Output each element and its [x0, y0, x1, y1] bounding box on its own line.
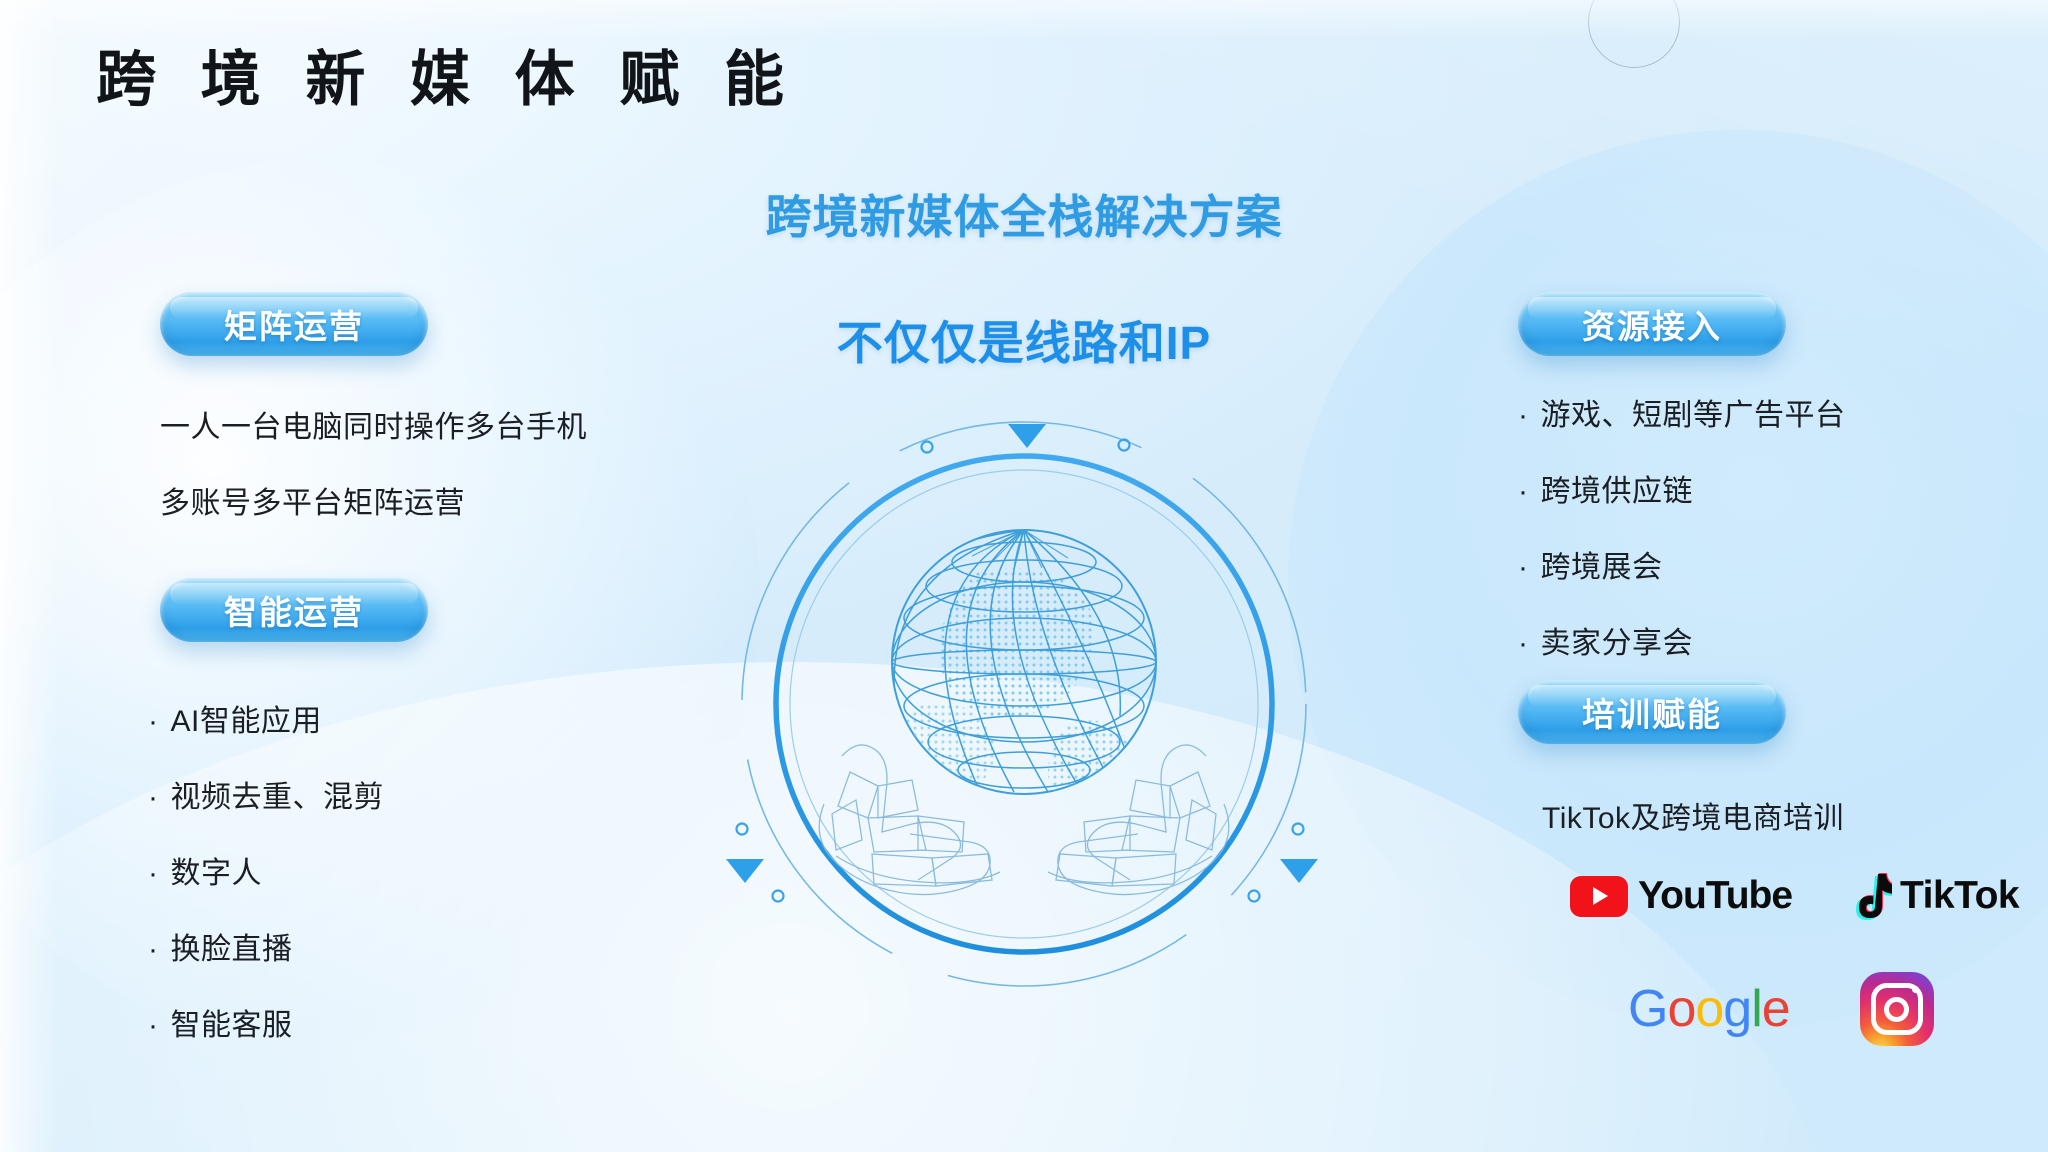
list-item: ·智能客服: [148, 1000, 384, 1044]
center-heading-primary: 跨境新媒体全栈解决方案: [0, 192, 2048, 243]
pill-matrix-operations[interactable]: 矩阵运营: [160, 292, 428, 356]
pill-smart-operations[interactable]: 智能运营: [160, 578, 428, 642]
youtube-logo[interactable]: YouTube: [1570, 874, 1792, 918]
list-item-label: AI智能应用: [171, 705, 322, 738]
list-item-label: 跨境展会: [1541, 551, 1663, 584]
bullet-mark: ·: [148, 705, 159, 738]
list-item: ·AI智能应用: [148, 696, 384, 740]
logo-row-top: YouTube TikTok: [1570, 872, 2019, 920]
list-item: ·卖家分享会: [1518, 618, 1846, 662]
instagram-logo[interactable]: [1860, 972, 1934, 1046]
tiktok-logo-label: TikTok: [1900, 874, 2019, 918]
youtube-play-icon: [1570, 876, 1628, 917]
bullet-mark: ·: [1518, 399, 1529, 432]
list-item: ·换脸直播: [148, 924, 384, 968]
pill-matrix-operations-label: 矩阵运营: [224, 300, 364, 348]
list-item: ·跨境供应链: [1518, 466, 1846, 510]
wireframe-globe-in-hands-icon: [724, 404, 1324, 1004]
list-item-label: 游戏、短剧等广告平台: [1541, 399, 1846, 432]
pill-smart-operations-label: 智能运营: [224, 586, 364, 634]
bullet-mark: ·: [1518, 551, 1529, 584]
page-title: 跨 境 新 媒 体 赋 能: [96, 50, 798, 110]
bullet-mark: ·: [1518, 627, 1529, 660]
list-item-label: 卖家分享会: [1541, 627, 1694, 660]
tiktok-note-icon: [1850, 872, 1892, 920]
list-item-label: 智能客服: [171, 1009, 293, 1042]
pill-training-empowerment[interactable]: 培训赋能: [1518, 680, 1786, 744]
list-item-label: 换脸直播: [171, 933, 293, 966]
list-item: ·视频去重、混剪: [148, 772, 384, 816]
list-item-label: 视频去重、混剪: [171, 781, 385, 814]
bullet-mark: ·: [148, 857, 159, 890]
list-item: ·数字人: [148, 848, 384, 892]
list-item: ·跨境展会: [1518, 542, 1846, 586]
google-logo[interactable]: Google: [1628, 979, 1790, 1039]
bullet-mark: ·: [148, 781, 159, 814]
pill-training-empowerment-label: 培训赋能: [1582, 688, 1722, 736]
globe-graphic: [724, 404, 1324, 1004]
right-section-2-line-1: TikTok及跨境电商培训: [1542, 793, 1844, 837]
decorative-edge-left: [0, 0, 60, 1152]
right-section-1-bullets: ·游戏、短剧等广告平台 ·跨境供应链 ·跨境展会 ·卖家分享会: [1518, 390, 1846, 694]
list-item: ·游戏、短剧等广告平台: [1518, 390, 1846, 434]
list-item-label: 跨境供应链: [1541, 475, 1694, 508]
bullet-mark: ·: [148, 933, 159, 966]
bullet-mark: ·: [148, 1009, 159, 1042]
left-section-1-line-2: 多账号多平台矩阵运营: [160, 478, 465, 522]
bullet-mark: ·: [1518, 475, 1529, 508]
left-section-2-bullets: ·AI智能应用 ·视频去重、混剪 ·数字人 ·换脸直播 ·智能客服: [148, 696, 384, 1076]
logo-row-bottom: Google: [1628, 972, 1934, 1046]
pill-resource-access[interactable]: 资源接入: [1518, 292, 1786, 356]
pill-resource-access-label: 资源接入: [1582, 300, 1722, 348]
decorative-edge-top: [0, 0, 2048, 40]
youtube-logo-label: YouTube: [1638, 874, 1792, 918]
tiktok-logo[interactable]: TikTok: [1850, 872, 2019, 920]
list-item-label: 数字人: [171, 857, 263, 890]
left-section-1-line-1: 一人一台电脑同时操作多台手机: [160, 402, 587, 446]
